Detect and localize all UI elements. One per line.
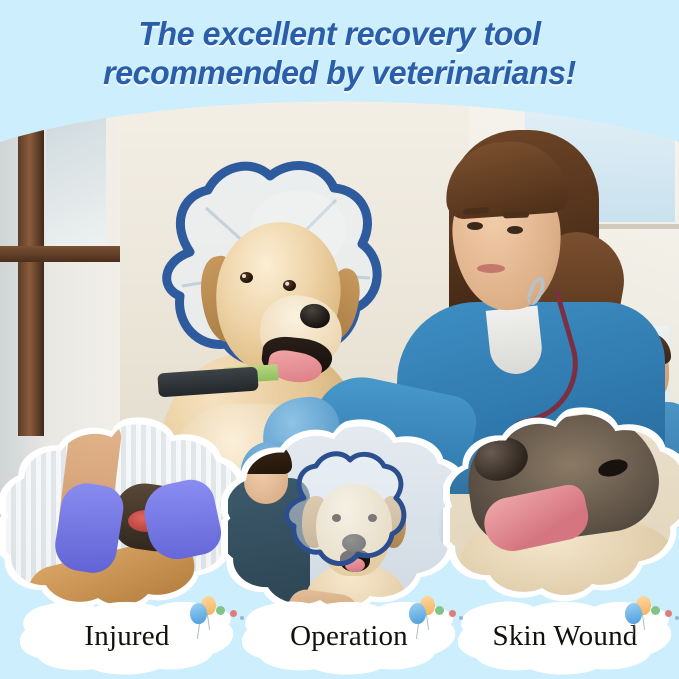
use-case-bubbles	[0, 0, 679, 679]
dot-small-icon	[459, 616, 463, 620]
use-case-labels: Injured Operation Skin Wound	[0, 598, 679, 679]
promo-poster: The excellent recovery tool recommended …	[0, 0, 679, 679]
use-case-bubble-skin-wound[interactable]	[450, 414, 679, 604]
balloon-blue-icon	[409, 603, 426, 624]
dot-green-icon	[216, 606, 225, 615]
use-case-bubble-injured[interactable]	[6, 424, 241, 614]
dot-small-icon	[675, 616, 679, 620]
dot-green-icon	[651, 606, 660, 615]
balloon-cluster-icon-3	[622, 596, 679, 630]
balloon-blue-icon	[190, 603, 207, 624]
recovery-cone-small-icon	[280, 450, 416, 578]
use-case-bubble-operation[interactable]	[228, 426, 463, 616]
dot-red-icon	[449, 610, 456, 617]
dot-green-icon	[435, 606, 444, 615]
balloon-blue-icon	[625, 603, 642, 624]
dot-small-icon	[240, 616, 244, 620]
balloon-cluster-icon-2	[406, 596, 468, 630]
dot-red-icon	[665, 610, 672, 617]
dot-red-icon	[230, 610, 237, 617]
balloon-cluster-icon-1	[187, 596, 249, 630]
